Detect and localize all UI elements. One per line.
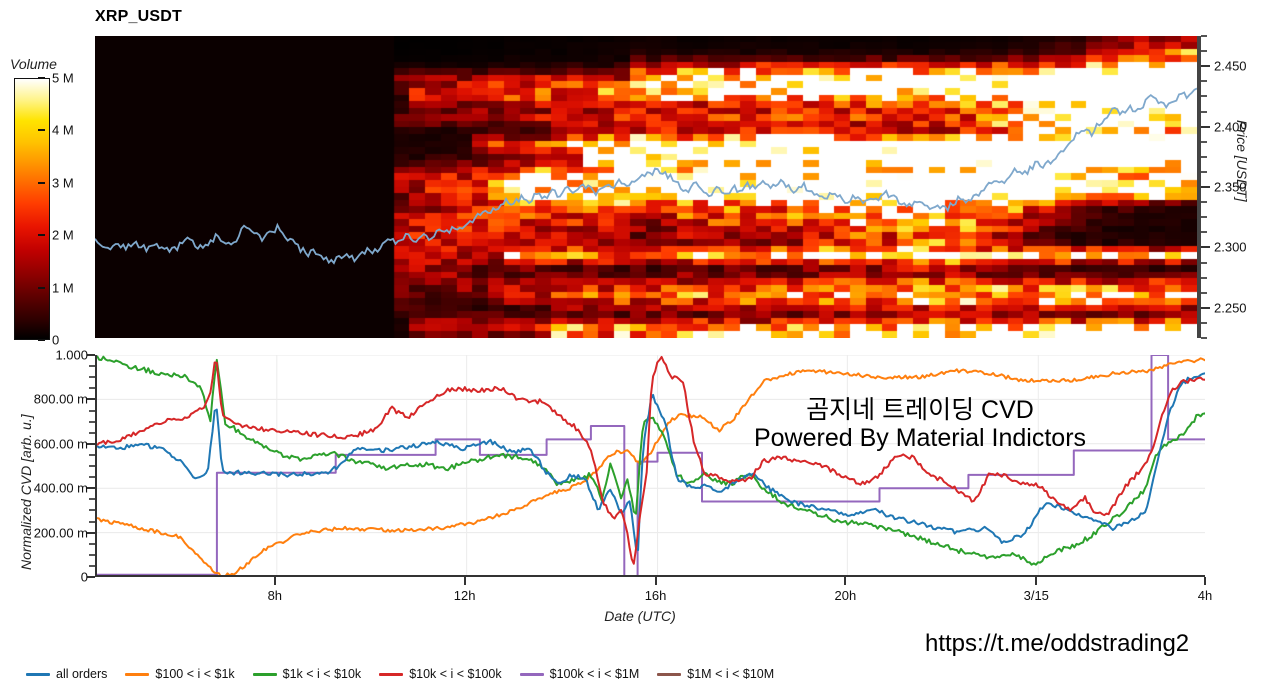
cvd-x-tick	[1035, 577, 1037, 585]
cvd-y-tick	[87, 532, 95, 534]
price-axis-tick-label: 2.450	[1214, 59, 1247, 74]
cvd-y-minor-tick	[89, 476, 95, 478]
legend-item-0[interactable]: all orders	[26, 667, 107, 681]
cvd-y-tick-label: 200.00 m	[34, 525, 88, 540]
cvd-y-tick	[87, 487, 95, 489]
cvd-x-tick	[844, 577, 846, 585]
price-axis-minor-tick	[1201, 35, 1207, 37]
price-axis-tick	[1201, 246, 1210, 248]
cvd-x-tick	[464, 577, 466, 585]
cvd-y-minor-tick	[89, 565, 95, 567]
price-axis-tick	[1201, 65, 1210, 67]
cvd-y-minor-tick	[89, 498, 95, 500]
legend: all orders$100 < i < $1k$1k < i < $10k$1…	[0, 662, 1280, 686]
cvd-y-tick	[87, 354, 95, 356]
colorbar-tick-label: 1 M	[52, 280, 74, 295]
cvd-y-minor-tick	[89, 376, 95, 378]
legend-item-2[interactable]: $1k < i < $10k	[253, 667, 362, 681]
page-title: XRP_USDT	[95, 8, 182, 26]
cvd-y-minor-tick	[89, 387, 95, 389]
legend-label: all orders	[56, 667, 107, 681]
legend-label: $100 < i < $1k	[155, 667, 234, 681]
price-axis-minor-tick	[1201, 277, 1207, 279]
orderbook-heatmap-panel	[95, 36, 1197, 338]
cvd-y-axis-title: Normalized CVD [arb. u.]	[18, 414, 34, 570]
colorbar-tick	[38, 77, 45, 79]
overlay-title-korean: 곰지네 트레이딩 CVD	[640, 390, 1200, 426]
colorbar-tick	[38, 182, 45, 184]
cvd-x-tick-label: 20h	[835, 588, 857, 603]
cvd-y-minor-tick	[89, 543, 95, 545]
price-axis-minor-tick	[1201, 201, 1207, 203]
price-axis-minor-tick	[1201, 156, 1207, 158]
legend-swatch-icon	[253, 673, 277, 676]
cvd-x-tick-label: 4h	[1198, 588, 1212, 603]
price-polyline	[95, 89, 1197, 264]
cvd-panel: MATERIAL INDICATORS	[95, 355, 1205, 577]
price-axis-minor-tick	[1201, 171, 1207, 173]
cvd-y-tick	[87, 443, 95, 445]
colorbar-tick	[38, 129, 45, 131]
price-axis-minor-tick	[1201, 141, 1207, 143]
volume-colorbar: Volume	[8, 56, 90, 344]
price-axis-tick	[1201, 307, 1210, 309]
legend-item-1[interactable]: $100 < i < $1k	[125, 667, 234, 681]
cvd-x-tick-label: 3/15	[1024, 588, 1049, 603]
telegram-url[interactable]: https://t.me/oddstrading2	[925, 630, 1189, 658]
price-axis-minor-tick	[1201, 292, 1207, 294]
colorbar-tick-label: 4 M	[52, 123, 74, 138]
cvd-y-minor-tick	[89, 521, 95, 523]
colorbar-tick-label: 3 M	[52, 175, 74, 190]
cvd-y-minor-tick	[89, 509, 95, 511]
legend-label: $100k < i < $1M	[550, 667, 640, 681]
legend-swatch-icon	[26, 673, 50, 676]
cvd-x-tick-label: 16h	[645, 588, 667, 603]
cvd-y-minor-tick	[89, 554, 95, 556]
cvd-y-tick-label: 0	[81, 570, 88, 585]
chart-root: XRP_USDT Volume 5 M4 M3 M2 M1 M0 2.4502.…	[0, 0, 1280, 694]
legend-item-5[interactable]: $1M < i < $10M	[657, 667, 774, 681]
price-axis-minor-tick	[1201, 322, 1207, 324]
cvd-y-tick-label: 800.00 m	[34, 392, 88, 407]
overlay-subtitle: Powered By Material Indictors	[640, 424, 1200, 453]
colorbar-tick	[38, 287, 45, 289]
price-axis-tick	[1201, 186, 1210, 188]
legend-item-4[interactable]: $100k < i < $1M	[520, 667, 640, 681]
cvd-x-tick	[1204, 577, 1206, 585]
colorbar-tick-label: 0	[52, 333, 59, 348]
cvd-x-tick-label: 12h	[454, 588, 476, 603]
cvd-y-tick-label: 600.00 m	[34, 436, 88, 451]
price-axis-minor-tick	[1201, 95, 1207, 97]
price-axis-minor-tick	[1201, 216, 1207, 218]
cvd-y-minor-tick	[89, 421, 95, 423]
price-axis-minor-tick	[1201, 231, 1207, 233]
price-axis-minor-tick	[1201, 80, 1207, 82]
price-axis-tick-label: 2.250	[1214, 300, 1247, 315]
cvd-y-tick-label: 400.00 m	[34, 481, 88, 496]
colorbar-tick	[38, 339, 45, 341]
cvd-x-tick	[274, 577, 276, 585]
legend-swatch-icon	[520, 673, 544, 676]
price-axis-minor-tick	[1201, 111, 1207, 113]
cvd-y-tick	[87, 576, 95, 578]
legend-swatch-icon	[379, 673, 403, 676]
colorbar-tick	[38, 234, 45, 236]
legend-swatch-icon	[125, 673, 149, 676]
price-axis-tick-label: 2.300	[1214, 240, 1247, 255]
cvd-y-minor-tick	[89, 432, 95, 434]
legend-label: $10k < i < $100k	[409, 667, 501, 681]
legend-item-3[interactable]: $10k < i < $100k	[379, 667, 501, 681]
cvd-x-axis-title: Date (UTC)	[0, 608, 1280, 624]
price-axis-tick	[1201, 126, 1210, 128]
price-axis-title: Price [USDT]	[1234, 120, 1250, 202]
cvd-x-tick-label: 8h	[268, 588, 282, 603]
cvd-x-tick	[655, 577, 657, 585]
colorbar-gradient	[14, 78, 50, 340]
price-axis-minor-tick	[1201, 262, 1207, 264]
price-axis-minor-tick	[1201, 50, 1207, 52]
cvd-y-minor-tick	[89, 465, 95, 467]
colorbar-title: Volume	[10, 56, 57, 72]
legend-label: $1k < i < $10k	[283, 667, 362, 681]
cvd-series-lines	[97, 355, 1205, 577]
legend-swatch-icon	[657, 673, 681, 676]
colorbar-tick-label: 5 M	[52, 71, 74, 86]
cvd-y-tick-label: 1.000	[55, 348, 88, 363]
legend-label: $1M < i < $10M	[687, 667, 774, 681]
price-line	[95, 36, 1197, 338]
cvd-series-line	[97, 357, 1205, 564]
cvd-y-minor-tick	[89, 365, 95, 367]
cvd-y-minor-tick	[89, 410, 95, 412]
cvd-y-tick	[87, 398, 95, 400]
price-axis-minor-tick	[1201, 337, 1207, 339]
colorbar-tick-label: 2 M	[52, 228, 74, 243]
cvd-y-minor-tick	[89, 454, 95, 456]
